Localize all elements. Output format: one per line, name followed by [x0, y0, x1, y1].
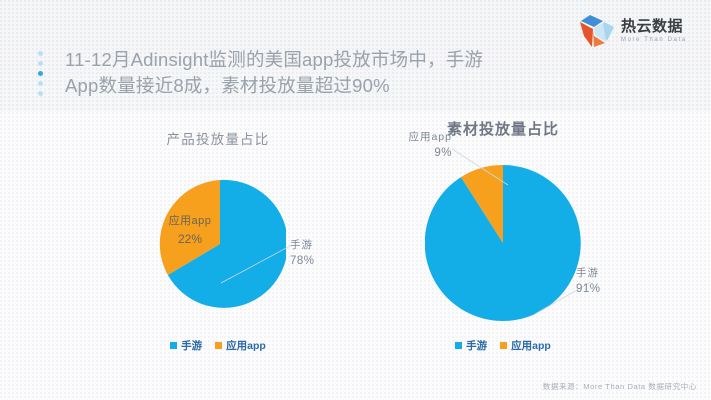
callout-shouyou-left: 手游 78% [290, 238, 315, 270]
callout-app-right-value: 9% [382, 145, 452, 162]
callout-shouyou-right-value: 91% [576, 281, 601, 298]
legend-item-shouyou-right[interactable]: 手游 [455, 338, 487, 353]
slice-label-app-name: 应用app [148, 213, 232, 230]
legend-right: 手游 应用app [398, 338, 608, 353]
chart-title-left: 产品投放量占比 [118, 128, 318, 148]
brand-name-cn: 热云数据 [621, 19, 687, 34]
leader-line-right-app [450, 143, 514, 191]
callout-shouyou-right: 手游 91% [576, 266, 601, 298]
legend-item-app-right[interactable]: 应用app [500, 338, 551, 353]
slide-canvas: 热云数据 More Than Data 11-12月Adinsight监测的美国… [0, 0, 711, 400]
brand-logo: 热云数据 More Than Data [577, 14, 687, 48]
callout-shouyou-right-name: 手游 [576, 266, 601, 281]
bullet-dot [38, 81, 43, 86]
bullet-dot [38, 61, 43, 66]
legend-label-shouyou-left: 手游 [181, 338, 202, 353]
legend-swatch-blue-icon [170, 342, 177, 349]
legend-swatch-blue-icon [455, 342, 462, 349]
pie-chart-creative-placement-share: 素材投放量占比 应用app 9% 手游 91% [398, 118, 608, 358]
leader-line-left [218, 238, 298, 288]
headline-bullet-dots [38, 51, 43, 96]
brand-logo-text: 热云数据 More Than Data [621, 19, 687, 43]
legend-item-shouyou-left[interactable]: 手游 [170, 338, 202, 353]
source-note: 数据来源：More Than Data 数据研究中心 [543, 381, 697, 392]
legend-left: 手游 应用app [118, 338, 318, 353]
callout-shouyou-left-name: 手游 [290, 238, 315, 253]
legend-swatch-orange-icon [500, 342, 507, 349]
pie-chart-product-placement-share: 产品投放量占比 应用app 22% 手游 78% 手游 [118, 128, 318, 358]
brand-tagline: More Than Data [621, 37, 687, 43]
bullet-dot [38, 51, 43, 56]
bullet-dot-active [38, 71, 43, 76]
rotated-cube-logo-icon [577, 14, 615, 48]
page-title: 11-12月Adinsight监测的美国app投放市场中，手游 App数量接近8… [65, 47, 545, 100]
bullet-dot [38, 91, 43, 96]
callout-app-right: 应用app 9% [382, 130, 452, 162]
callout-app-right-name: 应用app [382, 130, 452, 145]
legend-swatch-orange-icon [215, 342, 222, 349]
legend-label-app-left: 应用app [226, 338, 266, 353]
legend-label-shouyou-right: 手游 [466, 338, 487, 353]
legend-label-app-right: 应用app [511, 338, 551, 353]
callout-shouyou-left-value: 78% [290, 253, 315, 270]
legend-item-app-left[interactable]: 应用app [215, 338, 266, 353]
